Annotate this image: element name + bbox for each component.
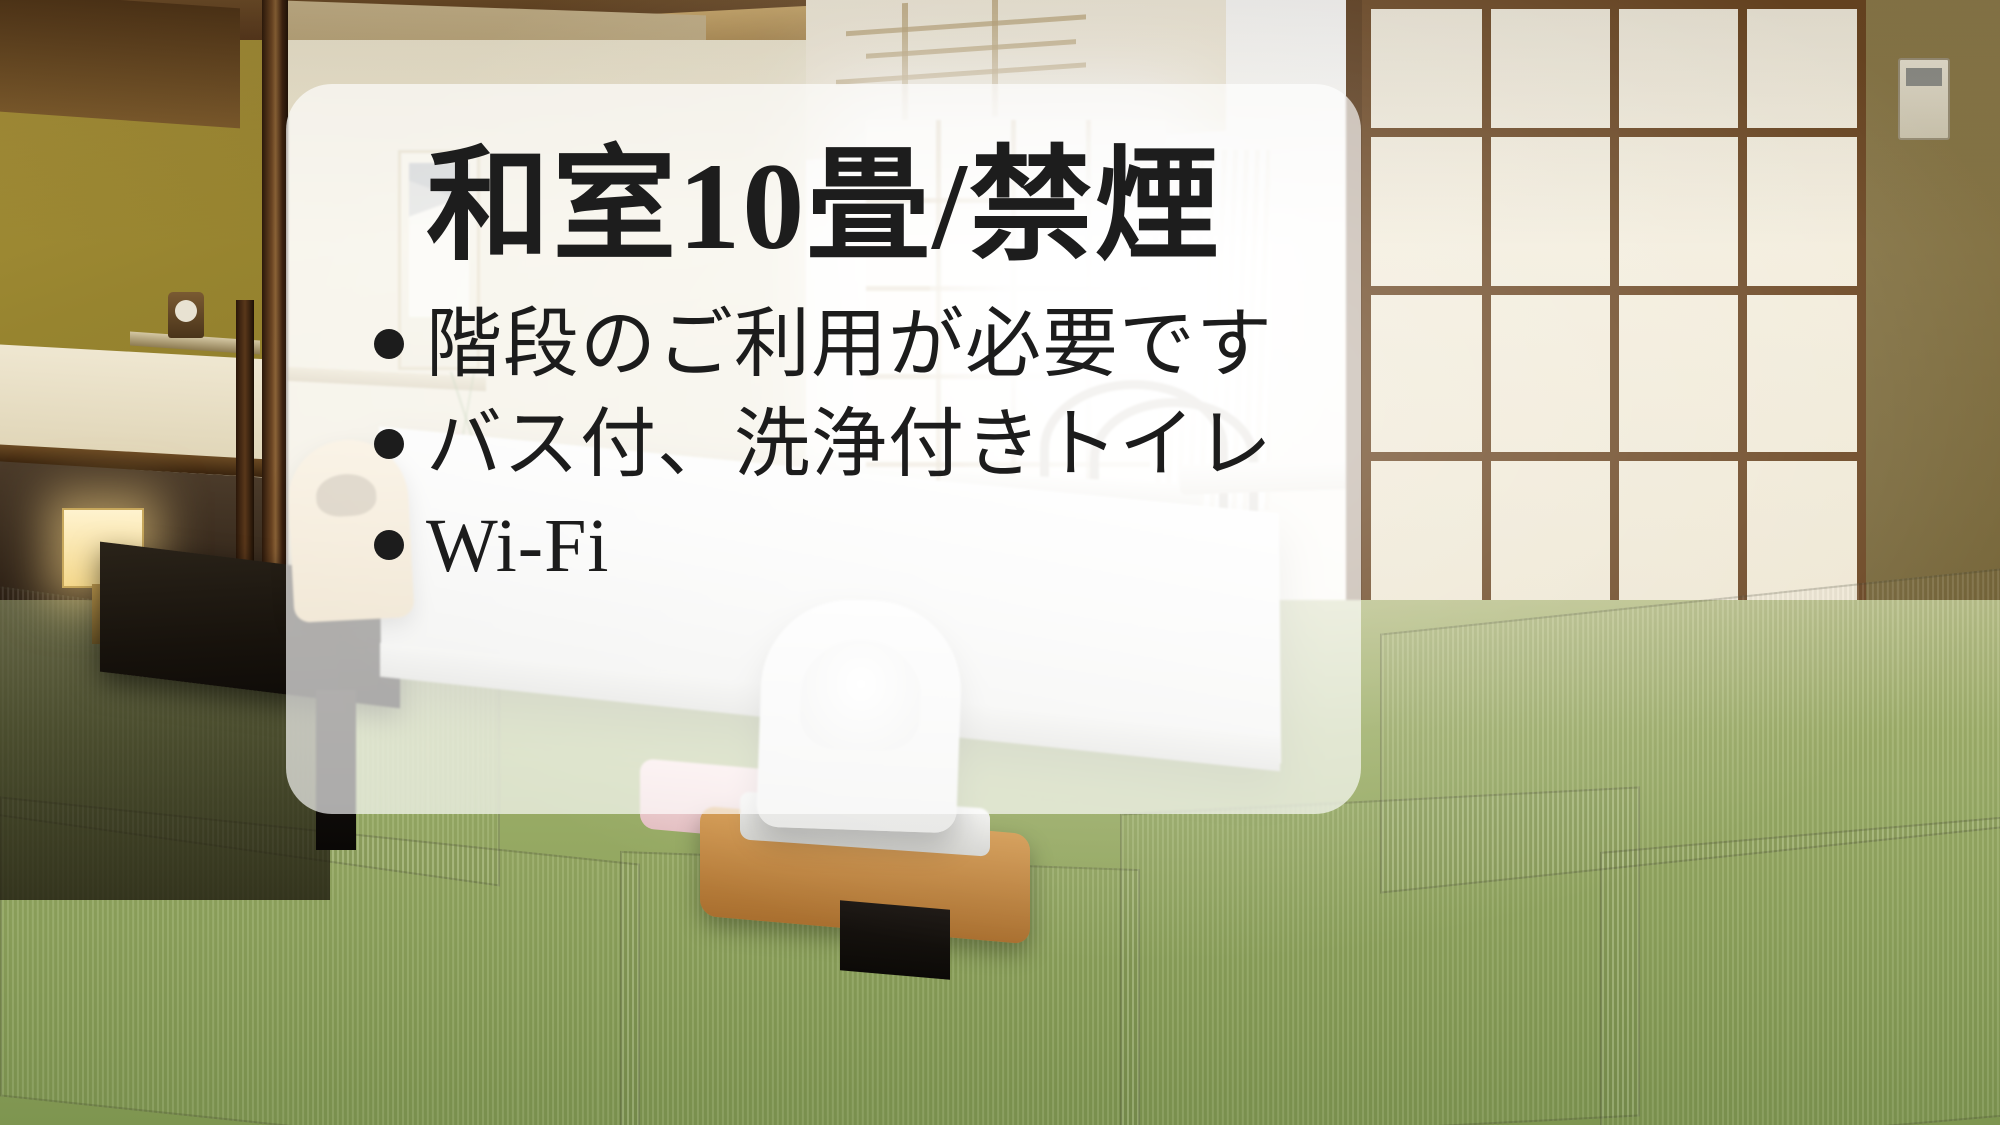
list-item: Wi-Fi bbox=[374, 496, 1325, 596]
list-item: バス付、洗浄付きトイレ bbox=[374, 395, 1325, 495]
wall-control-panel bbox=[1898, 58, 1950, 140]
left-upper-wall bbox=[0, 0, 240, 128]
list-item-label: 階段のご利用が必要です bbox=[426, 295, 1273, 395]
bullet-dot-icon bbox=[374, 530, 404, 560]
bullet-dot-icon bbox=[374, 429, 404, 459]
screenshot-root: 和室10畳/禁煙 階段のご利用が必要です バス付、洗浄付きトイレ Wi-Fi bbox=[0, 0, 2000, 1125]
table-clock bbox=[168, 292, 204, 338]
list-item-label: バス付、洗浄付きトイレ bbox=[426, 395, 1273, 495]
info-overlay-card: 和室10畳/禁煙 階段のご利用が必要です バス付、洗浄付きトイレ Wi-Fi bbox=[286, 84, 1361, 814]
floor-chair-foot bbox=[840, 900, 950, 980]
list-item-label: Wi-Fi bbox=[426, 496, 610, 596]
feature-list: 階段のご利用が必要です バス付、洗浄付きトイレ Wi-Fi bbox=[322, 295, 1325, 596]
page-title: 和室10畳/禁煙 bbox=[322, 138, 1325, 277]
bullet-dot-icon bbox=[374, 329, 404, 359]
list-item: 階段のご利用が必要です bbox=[374, 295, 1325, 395]
tatami-mat bbox=[1600, 808, 2000, 1125]
